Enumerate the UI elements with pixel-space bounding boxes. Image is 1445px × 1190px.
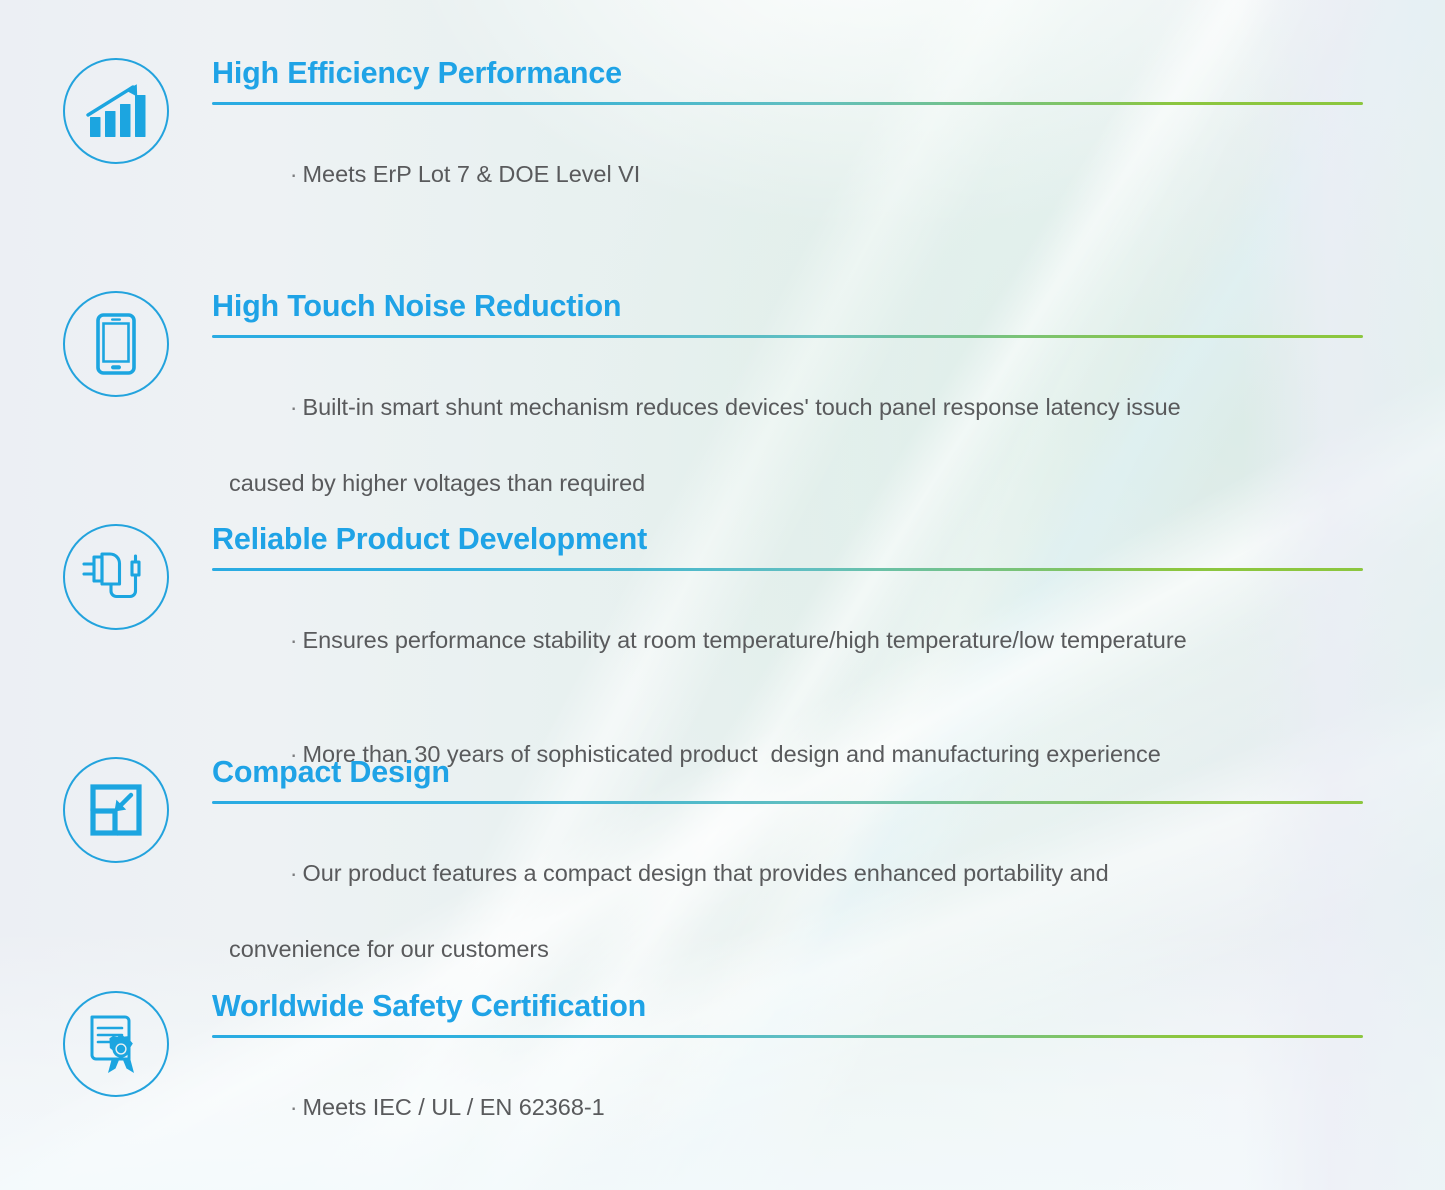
feature-description-continuation: convenience for our customers xyxy=(212,930,1372,968)
feature-description-line: ·Meets ErP Lot 7 & DOE Level VI xyxy=(212,117,1372,231)
feature-description-line: ·Ensures performance stability at room t… xyxy=(212,583,1372,697)
feature-icon-slot xyxy=(63,991,169,1097)
feature-highlights-page: High Efficiency Performance ·Meets ErP L… xyxy=(0,0,1445,1190)
feature-description-list: ·Meets IEC / UL / EN 62368-1 xyxy=(212,1050,1372,1164)
feature-icon-slot xyxy=(63,524,169,630)
feature-description-text: Built-in smart shunt mechanism reduces d… xyxy=(303,394,1181,420)
feature-description-line: ·Meets IEC / UL / EN 62368-1 xyxy=(212,1050,1372,1164)
feature-title: Reliable Product Development xyxy=(212,524,1372,555)
feature-divider-rule xyxy=(212,1035,1363,1038)
feature-divider-rule xyxy=(212,102,1363,105)
feature-description-text: Ensures performance stability at room te… xyxy=(303,627,1187,653)
feature-title: High Efficiency Performance xyxy=(212,58,1372,89)
feature-divider-rule xyxy=(212,568,1363,571)
feature-icon-slot xyxy=(63,757,169,863)
feature-icon-slot xyxy=(63,291,169,397)
feature-divider-rule xyxy=(212,335,1363,338)
feature-title: Compact Design xyxy=(212,757,1372,788)
compact-resize-icon xyxy=(63,757,169,863)
smartphone-icon xyxy=(63,291,169,397)
certificate-award-icon xyxy=(63,991,169,1097)
feature-icon-slot xyxy=(63,58,169,164)
bullet-marker: · xyxy=(290,394,303,420)
feature-divider-rule xyxy=(212,801,1363,804)
bullet-marker: · xyxy=(290,161,303,187)
feature-description-list: ·Meets ErP Lot 7 & DOE Level VI xyxy=(212,117,1372,231)
feature-description-text: Meets ErP Lot 7 & DOE Level VI xyxy=(303,161,641,187)
feature-title: High Touch Noise Reduction xyxy=(212,291,1372,322)
feature-text-block: Worldwide Safety Certification ·Meets IE… xyxy=(212,991,1372,1164)
feature-text-block: High Efficiency Performance ·Meets ErP L… xyxy=(212,58,1372,231)
feature-title: Worldwide Safety Certification xyxy=(212,991,1372,1022)
feature-description-text: Our product features a compact design th… xyxy=(303,860,1109,886)
bullet-marker: · xyxy=(290,1094,303,1120)
power-adapter-icon xyxy=(63,524,169,630)
bullet-marker: · xyxy=(290,860,303,886)
feature-description-continuation: caused by higher voltages than required xyxy=(212,464,1372,502)
bullet-marker: · xyxy=(290,627,303,653)
bar-chart-growth-icon xyxy=(63,58,169,164)
feature-description-text: Meets IEC / UL / EN 62368-1 xyxy=(303,1094,605,1120)
